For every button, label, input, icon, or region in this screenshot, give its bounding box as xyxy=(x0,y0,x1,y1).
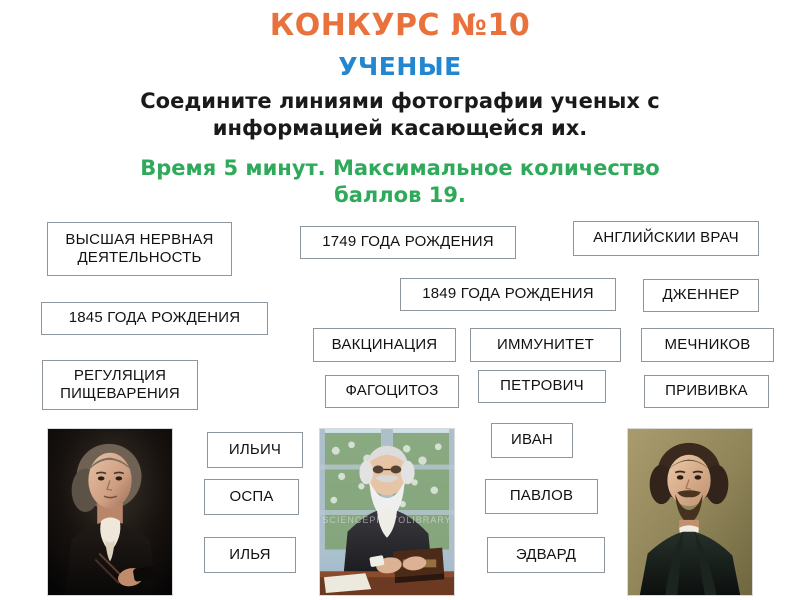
card-label: МЕЧНИКОВ xyxy=(665,336,751,354)
card-label: ИММУНИТЕТ xyxy=(497,336,594,354)
card-label: 1849 ГОДА РОЖДЕНИЯ xyxy=(422,285,594,303)
card-label-line-1: РЕГУЛЯЦИЯ xyxy=(74,367,166,384)
instruction-line-1: Соедините линиями фотографии ученых с xyxy=(95,88,705,115)
card-label: ПЕТРОВИЧ xyxy=(500,377,584,395)
card-label: ПРИВИВКА xyxy=(665,382,748,400)
card-label: 1749 ГОДА РОЖДЕНИЯ xyxy=(322,233,494,251)
card-ilya[interactable]: ИЛЬЯ xyxy=(204,537,296,573)
card-dzhenner[interactable]: ДЖЕННЕР xyxy=(643,279,759,312)
portrait-jenner[interactable] xyxy=(47,428,173,596)
portrait-mechnikov[interactable] xyxy=(627,428,753,596)
card-label-line-2: ПИЩЕВАРЕНИЯ xyxy=(60,385,180,402)
card-ivan[interactable]: ИВАН xyxy=(491,423,573,458)
card-label: ИЛЬИЧ xyxy=(229,441,281,459)
card-edvard[interactable]: ЭДВАРД xyxy=(487,537,605,573)
card-label: РЕГУЛЯЦИЯ ПИЩЕВАРЕНИЯ xyxy=(60,367,180,404)
card-label: ИЛЬЯ xyxy=(229,546,270,564)
timing-line-1: Время 5 минут. Максимальное количество xyxy=(95,155,705,182)
card-ilich[interactable]: ИЛЬИЧ xyxy=(207,432,303,468)
instruction-line-2: информацией касающейся их. xyxy=(95,115,705,142)
timing-line-2: баллов 19. xyxy=(95,182,705,209)
card-label-line-1: ВЫСШАЯ НЕРВНАЯ xyxy=(65,231,213,248)
card-label: ДЖЕННЕР xyxy=(662,286,739,304)
card-ospa[interactable]: ОСПА xyxy=(204,479,299,515)
card-label-line-2: ДЕЯТЕЛЬНОСТЬ xyxy=(77,249,201,266)
card-vysshaya-nervnaya-deyatelnost[interactable]: ВЫСШАЯ НЕРВНАЯ ДЕЯТЕЛЬНОСТЬ xyxy=(47,222,232,276)
card-vakcinaciya[interactable]: ВАКЦИНАЦИЯ xyxy=(313,328,456,362)
card-petrovich[interactable]: ПЕТРОВИЧ xyxy=(478,370,606,403)
card-label: АНГЛИЙСКИИ ВРАЧ xyxy=(593,229,739,247)
card-label: ИВАН xyxy=(511,431,553,449)
card-label: ПАВЛОВ xyxy=(510,487,573,505)
portrait-pavlov[interactable]: SCIENCEPHOTOLIBRARY xyxy=(319,428,455,596)
card-fagocitoz[interactable]: ФАГОЦИТОЗ xyxy=(325,375,459,408)
card-1749-goda-rozhdeniya[interactable]: 1749 ГОДА РОЖДЕНИЯ xyxy=(300,226,516,259)
page-title-topic: УЧЕНЫЕ xyxy=(0,52,800,81)
timing-and-score-text: Время 5 минут. Максимальное количество б… xyxy=(95,155,705,209)
card-label: ФАГОЦИТОЗ xyxy=(346,382,439,400)
card-angliyskiy-vrach[interactable]: АНГЛИЙСКИИ ВРАЧ xyxy=(573,221,759,256)
card-label: ВАКЦИНАЦИЯ xyxy=(332,336,438,354)
card-regulyaciya-pishchevareniya[interactable]: РЕГУЛЯЦИЯ ПИЩЕВАРЕНИЯ xyxy=(42,360,198,410)
card-immunitet[interactable]: ИММУНИТЕТ xyxy=(470,328,621,362)
card-1845-goda-rozhdeniya[interactable]: 1845 ГОДА РОЖДЕНИЯ xyxy=(41,302,268,335)
instruction-text: Соедините линиями фотографии ученых с ин… xyxy=(95,88,705,142)
card-label: ОСПА xyxy=(229,488,273,506)
slide-canvas: КОНКУРС №10 УЧЕНЫЕ Соедините линиями фот… xyxy=(0,0,800,600)
card-label: ЭДВАРД xyxy=(516,546,576,564)
card-mechnikov[interactable]: МЕЧНИКОВ xyxy=(641,328,774,362)
card-1849-goda-rozhdeniya[interactable]: 1849 ГОДА РОЖДЕНИЯ xyxy=(400,278,616,311)
card-privivka[interactable]: ПРИВИВКА xyxy=(644,375,769,408)
card-label: 1845 ГОДА РОЖДЕНИЯ xyxy=(69,309,241,327)
card-pavlov[interactable]: ПАВЛОВ xyxy=(485,479,598,514)
page-title-contest: КОНКУРС №10 xyxy=(0,8,800,43)
card-label: ВЫСШАЯ НЕРВНАЯ ДЕЯТЕЛЬНОСТЬ xyxy=(65,231,213,268)
